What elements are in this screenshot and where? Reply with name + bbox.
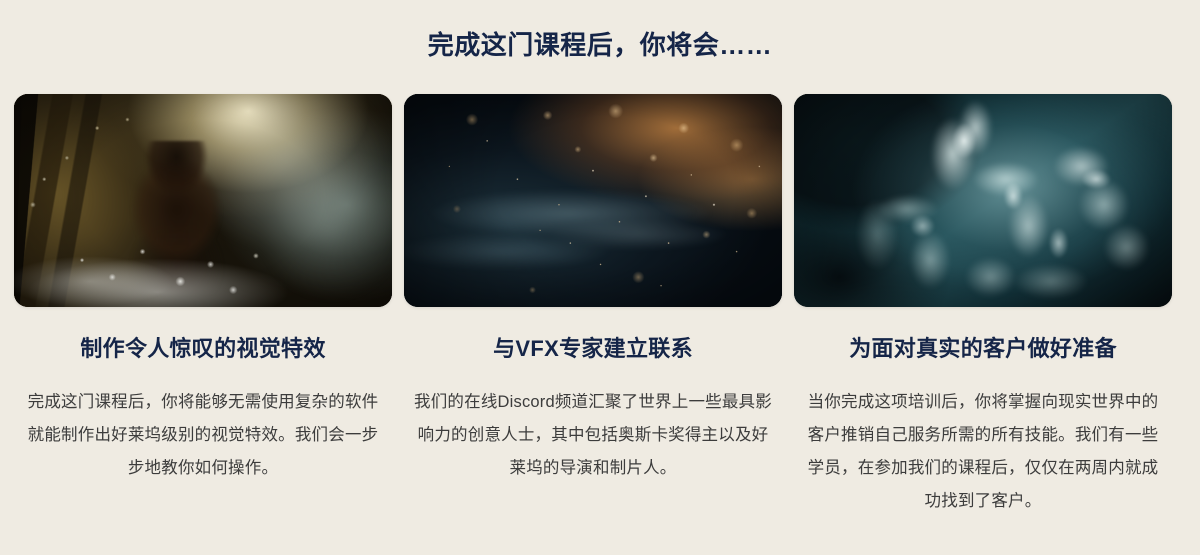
card-body-text: 当你完成这项培训后，你将掌握向现实世界中的客户推销自己服务所需的所有技能。我们有… bbox=[800, 386, 1166, 518]
benefit-card: 制作令人惊叹的视觉特效 完成这门课程后，你将能够无需使用复杂的软件就能制作出好莱… bbox=[14, 94, 392, 485]
card-title: 制作令人惊叹的视觉特效 bbox=[80, 335, 325, 364]
card-body-text: 我们的在线Discord频道汇聚了世界上一些最具影响力的创意人士，其中包括奥斯卡… bbox=[410, 386, 776, 485]
image-vignette-layer bbox=[14, 94, 392, 307]
section-heading: 完成这门课程后，你将会…… bbox=[0, 28, 1200, 63]
image-vignette-layer bbox=[404, 94, 782, 307]
card-title: 为面对真实的客户做好准备 bbox=[849, 335, 1117, 364]
card-image-teal-smoke-wisps bbox=[794, 94, 1172, 307]
card-image-blue-smoke-with-golden-embers bbox=[404, 94, 782, 307]
benefits-section: 完成这门课程后，你将会…… 制作令人惊叹的视觉特效 完成这门课程后，你将能够无需… bbox=[0, 0, 1200, 555]
benefit-card: 为面对真实的客户做好准备 当你完成这项培训后，你将掌握向现实世界中的客户推销自己… bbox=[794, 94, 1172, 518]
benefit-card: 与VFX专家建立联系 我们的在线Discord频道汇聚了世界上一些最具影响力的创… bbox=[404, 94, 782, 485]
benefit-cards-row: 制作令人惊叹的视觉特效 完成这门课程后，你将能够无需使用复杂的软件就能制作出好莱… bbox=[14, 94, 1186, 518]
card-title: 与VFX专家建立联系 bbox=[493, 335, 693, 364]
card-body-text: 完成这门课程后，你将能够无需使用复杂的软件就能制作出好莱坞级别的视觉特效。我们会… bbox=[20, 386, 386, 485]
image-vignette-layer bbox=[794, 94, 1172, 307]
card-image-warrior-running-through-water bbox=[14, 94, 392, 307]
